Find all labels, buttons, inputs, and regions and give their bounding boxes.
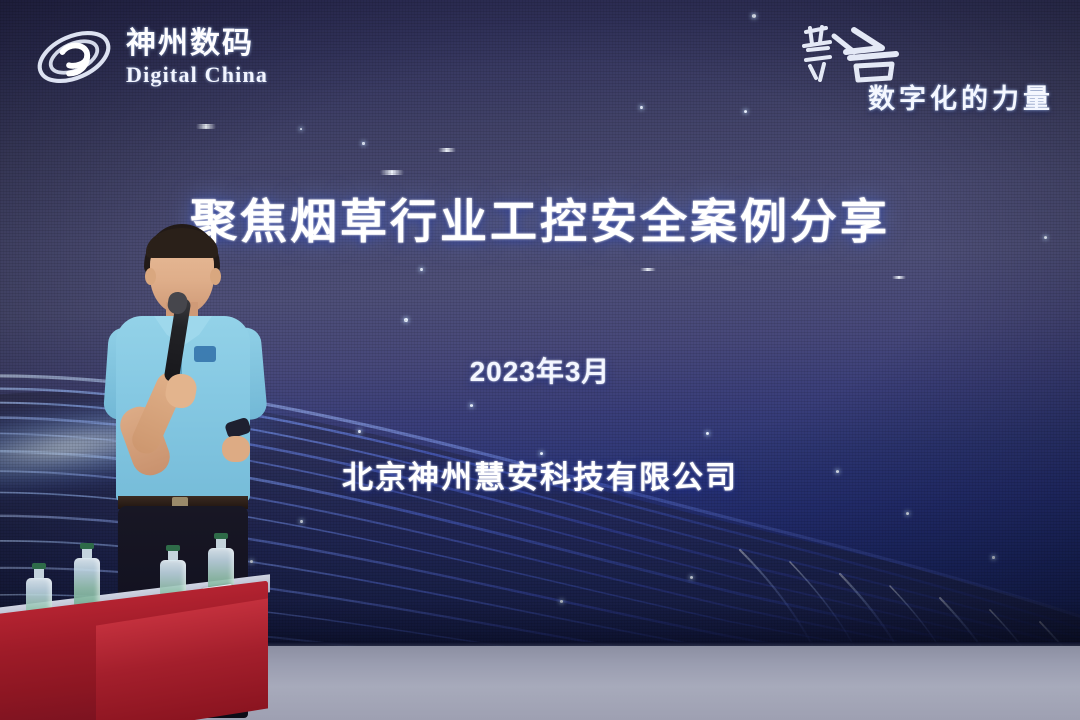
particle-dot	[706, 432, 709, 435]
light-streak	[640, 268, 656, 271]
presenter-hairline	[146, 228, 218, 258]
particle-dot	[358, 430, 361, 433]
particle-dot	[300, 128, 302, 130]
event-tagline: 数字化的力量	[868, 77, 1054, 116]
particle-dot	[744, 110, 747, 113]
light-streak	[438, 148, 456, 152]
light-streak	[380, 170, 404, 175]
light-streak	[196, 124, 216, 129]
particle-dot	[404, 318, 408, 322]
particle-dot	[752, 14, 756, 18]
particle-dot	[992, 556, 995, 559]
particle-dot	[420, 268, 423, 271]
particle-dot	[906, 512, 909, 515]
event-logo: 数字化的力量	[764, 14, 1054, 118]
particle-dot	[300, 520, 303, 523]
galaxy-swirl-icon	[32, 19, 116, 95]
particle-dot	[362, 142, 365, 145]
conference-stage-photo: 聚焦烟草行业工控安全案例分享 2023年3月 北京神州慧安科技有限公司 神州数码…	[0, 0, 1080, 720]
presenter-ear-left	[145, 268, 156, 285]
logo-english-name: Digital China	[126, 64, 268, 86]
particle-dot	[560, 600, 563, 603]
presenter-hand-right	[222, 436, 250, 462]
logo-chinese-name: 神州数码	[126, 29, 268, 59]
light-streak	[892, 276, 906, 279]
digital-china-logo: 神州数码 Digital China	[32, 14, 292, 100]
particle-dot	[690, 576, 693, 579]
particle-dot	[470, 404, 473, 407]
particle-dot	[640, 106, 643, 109]
presenter-ear-right	[210, 268, 221, 285]
shirt-chest-logo	[194, 346, 216, 362]
